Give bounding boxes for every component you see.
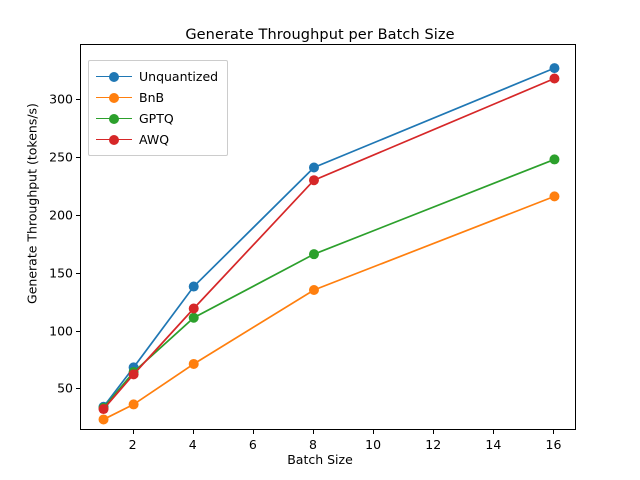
data-point: [309, 285, 319, 295]
figure-canvas: Generate Throughput per Batch Size 50100…: [0, 0, 640, 480]
y-tick-mark: [76, 331, 80, 332]
data-point: [99, 404, 109, 414]
x-tick-label: 8: [309, 437, 317, 452]
x-tick-mark: [433, 430, 434, 434]
x-tick-label: 10: [365, 437, 381, 452]
x-tick-mark: [313, 430, 314, 434]
x-tick-mark: [553, 430, 554, 434]
legend-label: AWQ: [139, 132, 169, 147]
x-axis-label: Batch Size: [0, 452, 640, 467]
legend-label: BnB: [139, 90, 164, 105]
data-point: [189, 282, 199, 292]
data-point: [189, 303, 199, 313]
legend-marker-icon: [96, 91, 132, 105]
legend: UnquantizedBnBGPTQAWQ: [88, 60, 228, 156]
x-tick-mark: [493, 430, 494, 434]
data-point: [309, 163, 319, 173]
x-tick-mark: [373, 430, 374, 434]
series-line-bnb: [104, 196, 555, 419]
legend-item-gptq[interactable]: GPTQ: [96, 108, 218, 129]
legend-marker-icon: [96, 70, 132, 84]
data-point: [549, 191, 559, 201]
y-tick-mark: [76, 215, 80, 216]
data-point: [309, 249, 319, 259]
x-tick-mark: [193, 430, 194, 434]
x-tick-label: 14: [485, 437, 501, 452]
data-point: [549, 74, 559, 84]
x-tick-mark: [133, 430, 134, 434]
data-point: [549, 154, 559, 164]
x-tick-label: 6: [249, 437, 257, 452]
legend-item-unquantized[interactable]: Unquantized: [96, 66, 218, 87]
y-tick-label: 50: [16, 381, 73, 396]
legend-label: GPTQ: [139, 111, 174, 126]
data-point: [129, 399, 139, 409]
data-point: [189, 359, 199, 369]
x-tick-label: 2: [129, 437, 137, 452]
legend-item-bnb[interactable]: BnB: [96, 87, 218, 108]
data-point: [189, 313, 199, 323]
data-point: [99, 414, 109, 424]
data-point: [309, 175, 319, 185]
legend-marker-icon: [96, 133, 132, 147]
x-tick-label: 12: [425, 437, 441, 452]
y-tick-mark: [76, 157, 80, 158]
legend-marker-icon: [96, 112, 132, 126]
chart-title: Generate Throughput per Batch Size: [0, 27, 640, 43]
legend-item-awq[interactable]: AWQ: [96, 129, 218, 150]
x-tick-mark: [253, 430, 254, 434]
y-tick-mark: [76, 273, 80, 274]
x-tick-label: 16: [546, 437, 562, 452]
y-axis-label: Generate Throughput (tokens/s): [25, 54, 40, 354]
y-tick-mark: [76, 99, 80, 100]
y-tick-mark: [76, 388, 80, 389]
data-point: [129, 369, 139, 379]
data-point: [549, 63, 559, 73]
x-tick-label: 4: [189, 437, 197, 452]
legend-label: Unquantized: [139, 69, 218, 84]
